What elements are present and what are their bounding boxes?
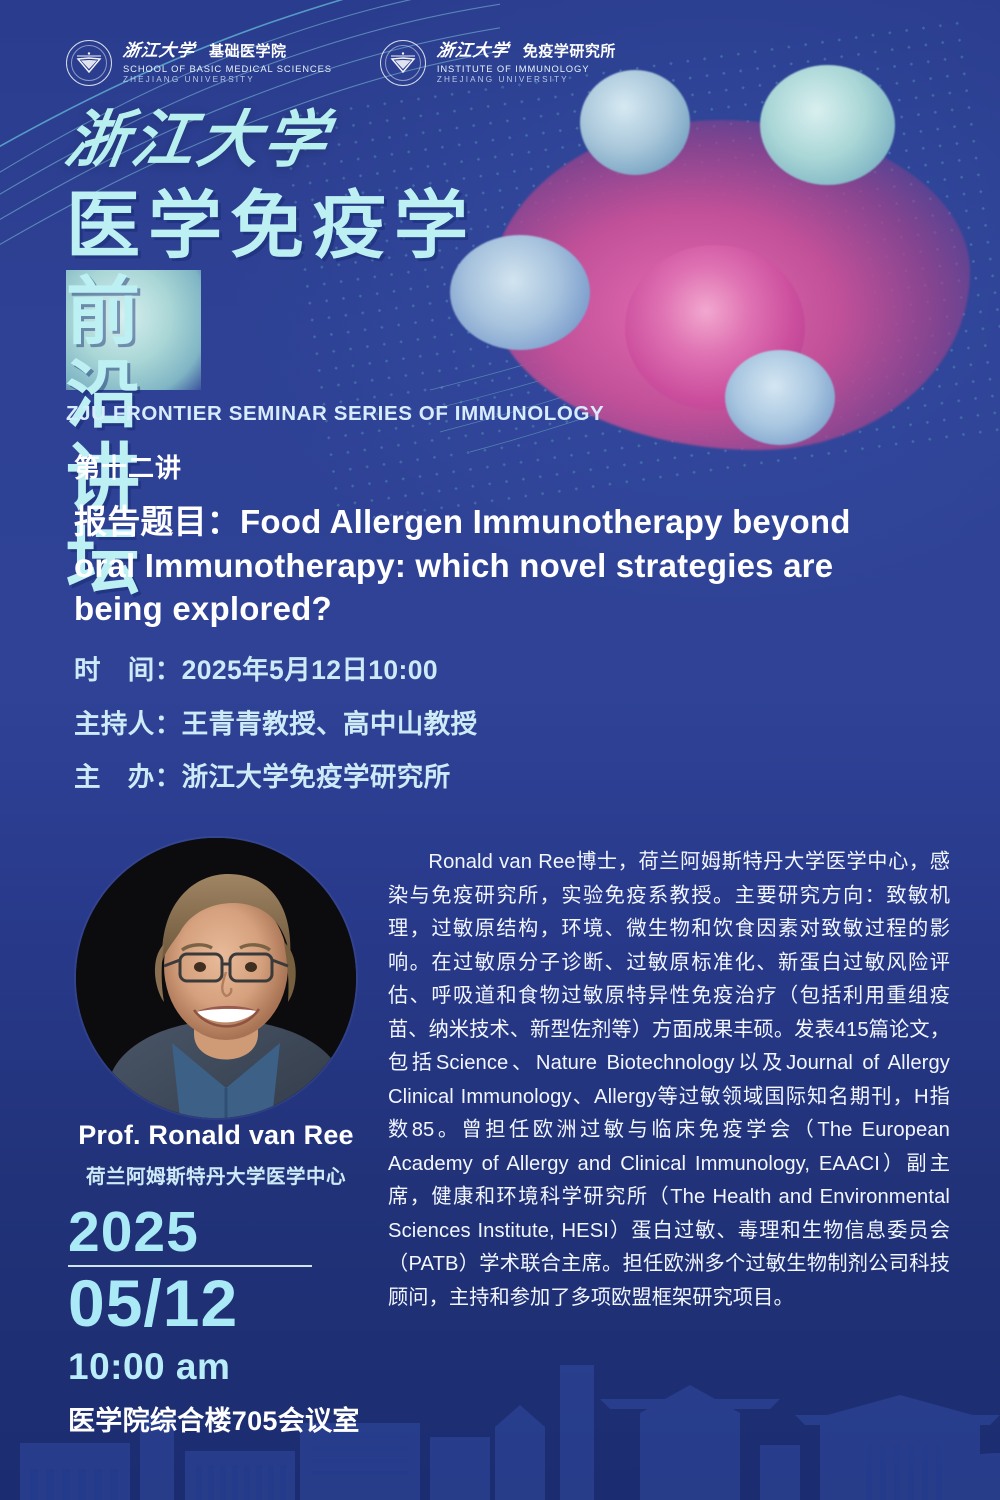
meta-row-time: 时 间：2025年5月12日10:00 [74, 657, 854, 684]
lecture-number-label: 第十二讲 [74, 448, 182, 485]
speaker-biography-text: Ronald van Ree博士，荷兰阿姆斯特丹大学医学中心，感染与免疫研究所，… [388, 846, 950, 1315]
header-logos: 浙江大学 基础医学院 SCHOOL OF BASIC MEDICAL SCIEN… [66, 40, 616, 86]
lecture-title: 报告题目：Food Allergen Immunotherapy beyond … [74, 500, 904, 631]
masthead-brush-title: 浙江大学 [61, 110, 541, 172]
event-place: 医学院综合楼705会议室 [68, 1399, 368, 1438]
date-divider [68, 1265, 312, 1267]
masthead-english-subtitle: ZJU FRONTIER SEMINAR SERIES OF IMMUNOLOG… [66, 402, 536, 426]
logo-institute-of-immunology: 浙江大学 免疫学研究所 INSTITUTE OF IMMUNOLOGY ZHEJ… [380, 40, 616, 86]
logo-en-line2: ZHEJIANG UNIVERSITY [437, 76, 616, 84]
lecture-meta-list: 时 间：2025年5月12日10:00 主持人：王青青教授、高中山教授 主 办：… [74, 657, 854, 818]
logo-school-of-basic-medical-sciences: 浙江大学 基础医学院 SCHOOL OF BASIC MEDICAL SCIEN… [66, 40, 332, 86]
logo-cn-sub: 免疫学研究所 [523, 44, 616, 59]
zju-seal-icon [380, 40, 426, 86]
lymphocyte-icon [760, 65, 895, 185]
zju-seal-icon [66, 40, 112, 86]
speaker-affiliation: 荷兰阿姆斯特丹大学医学中心 [36, 1160, 396, 1189]
masthead: 浙江大学 医学免疫学 前沿讲坛 ZJU FRONTIER SEMINAR SER… [66, 110, 536, 426]
meta-label: 时 间： [74, 655, 182, 685]
meta-label: 主 办： [74, 762, 182, 792]
speaker-biography: Ronald van Ree博士，荷兰阿姆斯特丹大学医学中心，感染与免疫研究所，… [388, 846, 950, 1315]
meta-label: 主持人： [74, 709, 182, 739]
logo-en-line1: SCHOOL OF BASIC MEDICAL SCIENCES [123, 64, 332, 73]
masthead-line2: 前沿讲坛 [66, 270, 201, 390]
cancer-cell-nucleus [625, 245, 805, 410]
meta-row-organizer: 主 办：浙江大学免疫学研究所 [74, 764, 854, 791]
logo-cn-sub: 基础医学院 [209, 44, 287, 59]
event-day: 05/12 [68, 1269, 368, 1338]
lymphocyte-icon [725, 350, 835, 445]
logo-cn-main: 浙江大学 [436, 42, 510, 59]
masthead-line1: 医学免疫学 [66, 184, 536, 268]
event-time: 10:00 am [68, 1348, 368, 1385]
event-year: 2025 [68, 1205, 368, 1259]
speaker-info: Prof. Ronald van Ree 荷兰阿姆斯特丹大学医学中心 [36, 1120, 396, 1189]
poster-root: 浙江大学 基础医学院 SCHOOL OF BASIC MEDICAL SCIEN… [0, 0, 1000, 1500]
speaker-name: Prof. Ronald van Ree [36, 1120, 396, 1151]
meta-value: 王青青教授、高中山教授 [182, 709, 478, 739]
logo-en-line1: INSTITUTE OF IMMUNOLOGY [437, 64, 616, 73]
cancer-cell-body [490, 120, 970, 450]
meta-value: 浙江大学免疫学研究所 [182, 762, 451, 792]
logo-cn-main: 浙江大学 [122, 42, 196, 59]
speaker-portrait [76, 838, 356, 1118]
meta-value: 2025年5月12日10:00 [182, 655, 438, 685]
logo-en-line2: ZHEJIANG UNIVERSITY [123, 76, 332, 84]
event-date-block: 2025 05/12 10:00 am 医学院综合楼705会议室 [68, 1205, 368, 1438]
meta-row-host: 主持人：王青青教授、高中山教授 [74, 711, 854, 738]
